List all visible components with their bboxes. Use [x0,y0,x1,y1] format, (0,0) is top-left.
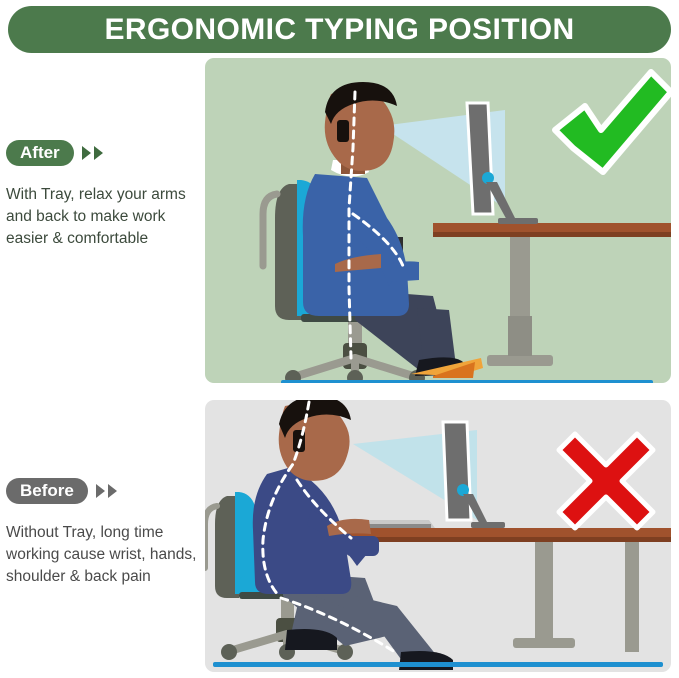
after-badge: After [6,140,74,166]
monitor-screen [467,103,493,214]
monitor-screen [443,422,471,520]
desk-leg-column [535,542,553,638]
desk-top [433,223,671,232]
monitor-stand-base [471,522,505,528]
before-illustration-panel [205,400,671,672]
after-caption: With Tray, relax your arms and back to m… [6,184,201,250]
chair-armrest [263,194,277,266]
monitor-stand-base [498,218,538,224]
double-chevron-right-icon [96,484,117,498]
person-sleeve [389,261,419,282]
desk-base [487,355,553,366]
cross-mark-icon [553,428,659,534]
before-badge: Before [6,478,88,504]
person-shoe-front [399,651,453,670]
desk-top-edge [331,537,671,542]
desk-leg-rear [625,542,639,652]
desk-base [513,638,575,648]
person-torso [303,174,409,316]
page-title: ERGONOMIC TYPING POSITION [104,13,574,47]
chair-caster [221,644,237,660]
chair-caster [337,644,353,660]
desk-top-edge [433,232,671,237]
person-ear-hair [337,120,349,142]
before-section-text: Before Without Tray, long time working c… [6,478,201,588]
before-caption: Without Tray, long time working cause wr… [6,522,201,588]
header-banner: ERGONOMIC TYPING POSITION [8,6,671,53]
double-chevron-right-icon [82,146,103,160]
desk-leg-lower [508,316,532,356]
after-section-text: After With Tray, relax your arms and bac… [6,140,201,250]
before-badge-row: Before [6,478,201,504]
floor-line [213,662,663,667]
after-illustration-panel [205,58,671,383]
floor-line [281,380,653,383]
after-badge-row: After [6,140,201,166]
check-mark-icon [539,68,679,188]
